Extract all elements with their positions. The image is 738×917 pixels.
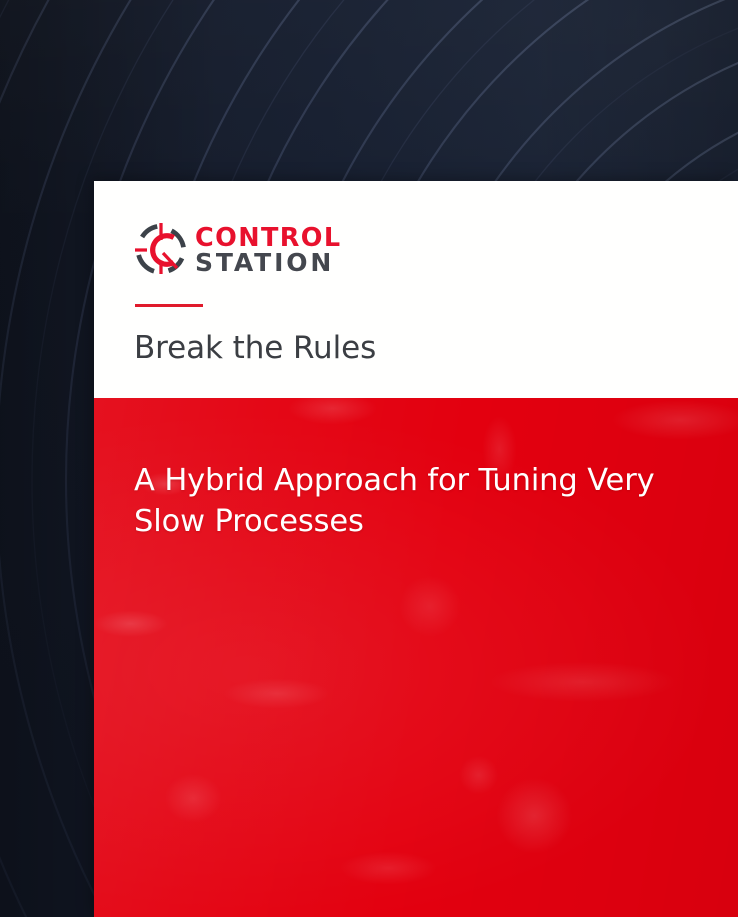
cover-hero-panel: A Hybrid Approach for Tuning Very Slow P…	[94, 398, 738, 917]
wordmark-line-control: CONTROL	[195, 226, 342, 251]
series-headline: Break the Rules	[134, 330, 376, 366]
accent-rule	[135, 304, 203, 307]
control-station-wordmark: CONTROL STATION	[195, 225, 342, 276]
control-station-logo[interactable]: CONTROL STATION	[134, 222, 342, 278]
cover-title: A Hybrid Approach for Tuning Very Slow P…	[134, 460, 720, 543]
wordmark-line-station: STATION	[195, 251, 342, 276]
control-station-target-icon	[134, 222, 188, 278]
cover-header: CONTROL STATION Break the Rules	[94, 181, 738, 398]
cover-card: CONTROL STATION Break the Rules A Hybrid…	[94, 181, 738, 917]
